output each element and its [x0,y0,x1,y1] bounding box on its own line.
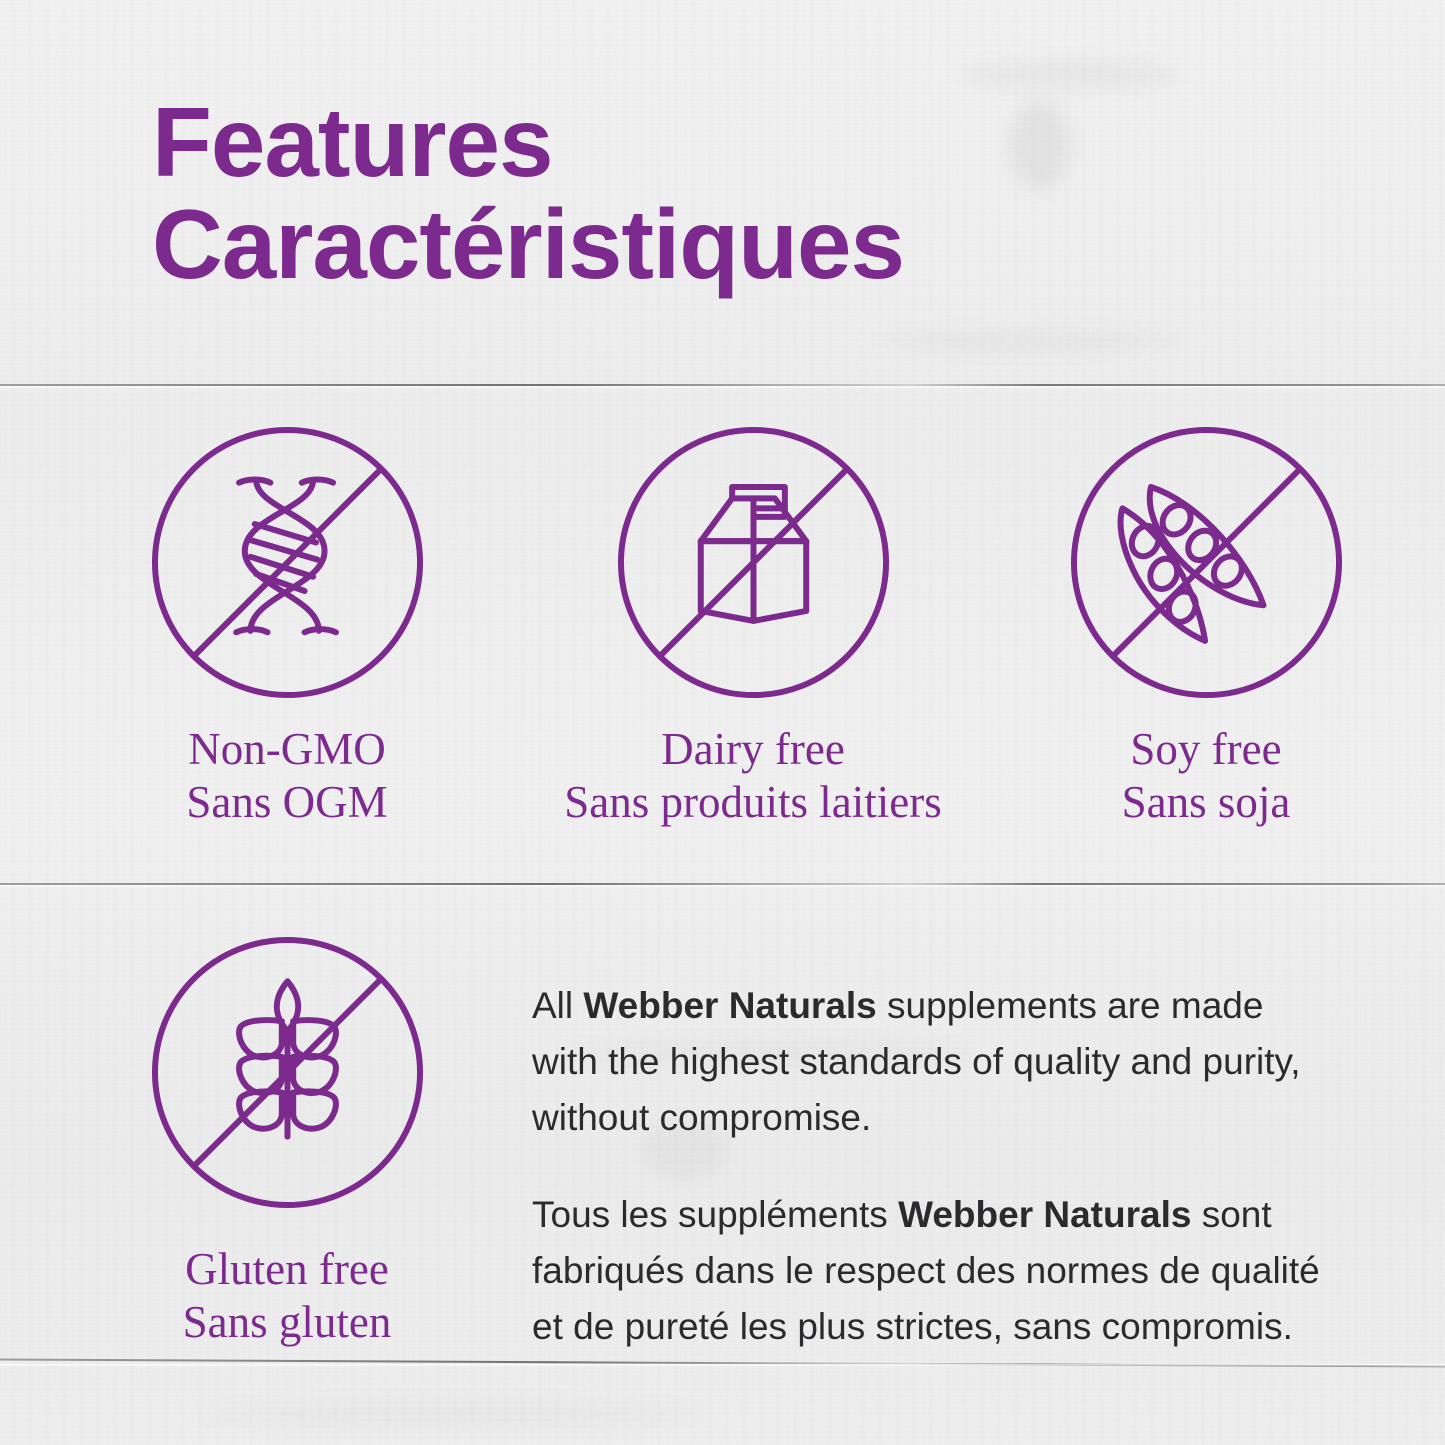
feature-non-gmo: Non-GMO Sans OGM [72,420,502,828]
feature-label-fr: Sans gluten [72,1296,502,1349]
features-panel: Features Caractéristiques [0,0,1445,1445]
no-wheat-stalk-icon [145,930,430,1215]
feature-caption: Non-GMO Sans OGM [72,723,502,828]
feature-soy-free: Soy free Sans soja [1006,420,1406,828]
brand-copy-fr: Tous les suppléments Webber Naturals son… [532,1187,1332,1356]
no-dna-helix-icon [145,420,430,705]
feature-label-en: Soy free [1006,723,1406,776]
brand-copy-block: All Webber Naturals supplements are made… [532,930,1332,1355]
feature-label-en: Non-GMO [72,723,502,776]
feature-caption: Gluten free Sans gluten [72,1243,502,1348]
feature-label-fr: Sans soja [1006,776,1406,829]
copy-en-before: All [532,985,583,1026]
wood-grain-blotch [200,1400,700,1428]
no-milk-carton-icon [611,420,896,705]
brand-name-en: Webber Naturals [583,985,876,1026]
brand-copy-en: All Webber Naturals supplements are made… [532,978,1332,1147]
page-title: Features Caractéristiques [152,92,1252,296]
feature-row-bottom: Gluten free Sans gluten All Webber Natur… [0,930,1445,1355]
feature-caption: Dairy free Sans produits laitiers [518,723,988,828]
page-title-line-fr: Caractéristiques [152,194,1252,296]
feature-label-fr: Sans produits laitiers [518,776,988,829]
feature-label-en: Dairy free [518,723,988,776]
feature-label-fr: Sans OGM [72,776,502,829]
feature-dairy-free: Dairy free Sans produits laitiers [518,420,988,828]
feature-label-en: Gluten free [72,1243,502,1296]
no-soy-pods-icon [1064,420,1349,705]
wood-grain-blotch [880,330,1180,352]
feature-gluten-free: Gluten free Sans gluten [72,930,502,1348]
brand-name-fr: Webber Naturals [898,1194,1191,1235]
page-title-line-en: Features [152,92,1252,194]
copy-fr-before: Tous les suppléments [532,1194,898,1235]
feature-row-top: Non-GMO Sans OGM [0,420,1445,828]
feature-caption: Soy free Sans soja [1006,723,1406,828]
wood-grain-blotch [960,60,1180,90]
